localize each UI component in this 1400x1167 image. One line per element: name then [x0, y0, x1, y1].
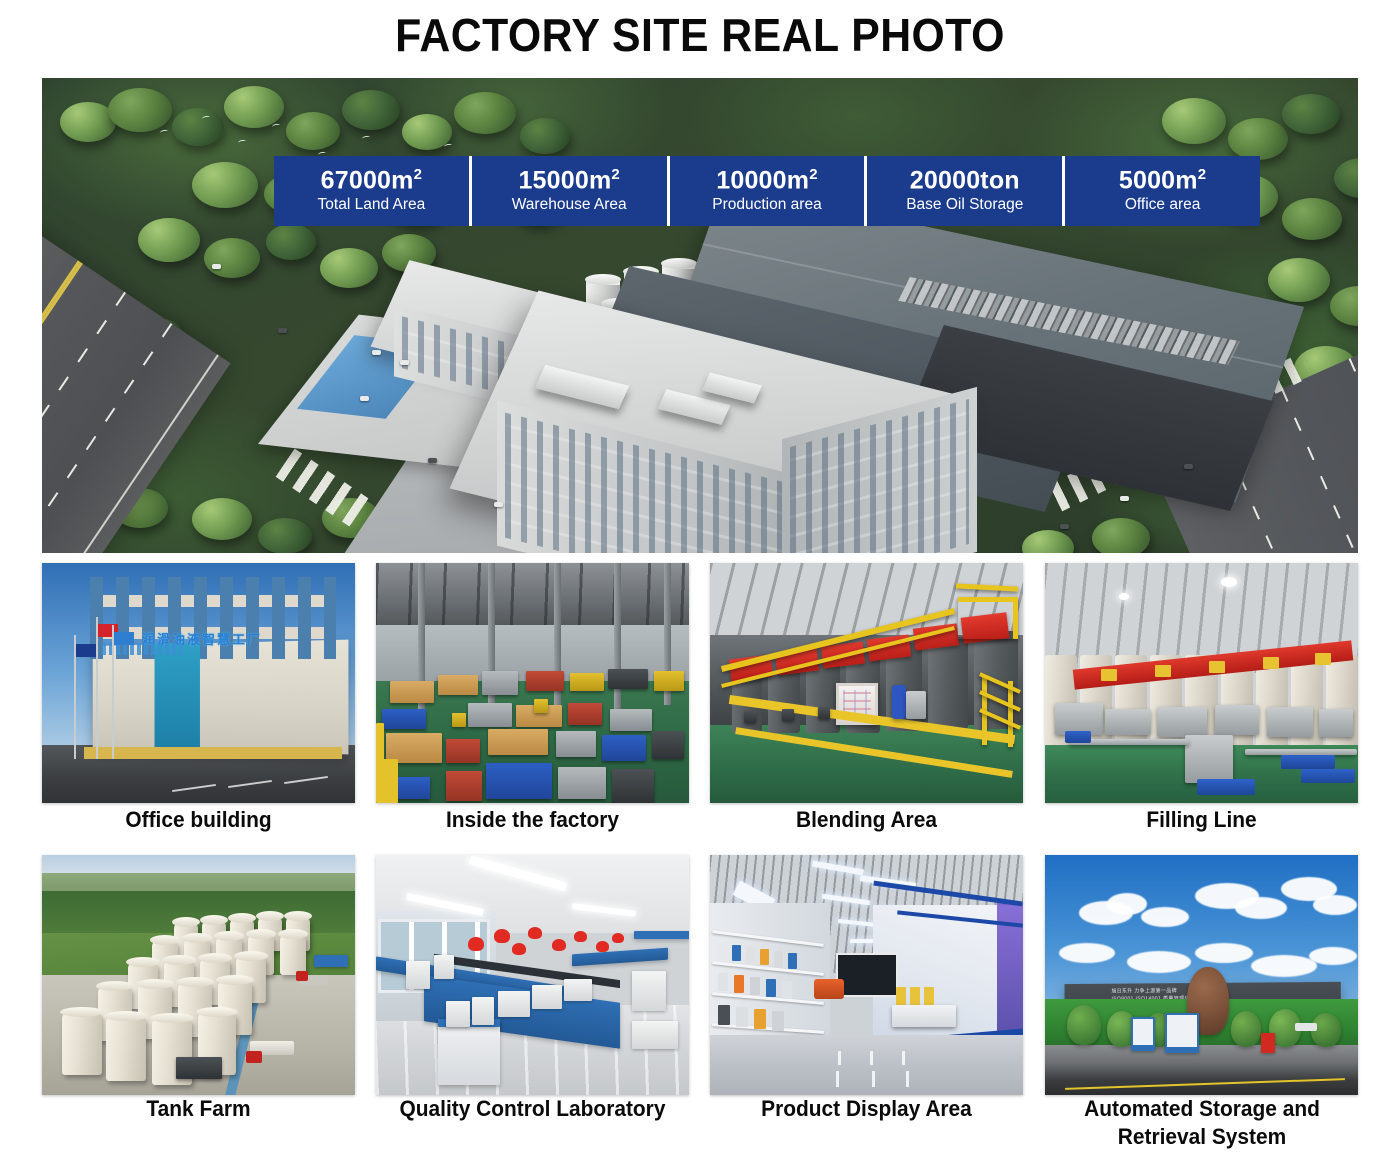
stat-value: 10000m2: [716, 167, 818, 194]
hero-aerial-photo: 67000m2 Total Land Area 15000m2 Warehous…: [42, 78, 1358, 553]
stat-label: Total Land Area: [318, 195, 426, 215]
gallery-captions-row-1: Office building Inside the factory Blend…: [42, 806, 1358, 846]
stat-label: Base Oil Storage: [906, 195, 1023, 215]
photo-tank-farm: [42, 855, 355, 1095]
caption-quality-control-laboratory: Quality Control Laboratory: [384, 1095, 681, 1123]
caption-inside-the-factory: Inside the factory: [384, 806, 681, 834]
stat-item: 5000m2 Office area: [1065, 156, 1260, 226]
photo-blending-area: [710, 563, 1023, 803]
stat-value: 15000m2: [518, 167, 620, 194]
caption-tank-farm: Tank Farm: [50, 1095, 347, 1123]
stat-label: Warehouse Area: [512, 195, 627, 215]
stat-item: 10000m2 Production area: [670, 156, 868, 226]
stat-value: 5000m2: [1119, 167, 1206, 194]
caption-product-display-area: Product Display Area: [718, 1095, 1015, 1123]
photo-quality-control-laboratory: [376, 855, 689, 1095]
photo-inside-factory: [376, 563, 689, 803]
caption-automated-storage-retrieval-system: Automated Storage and Retrieval System: [1042, 1095, 1361, 1150]
photo-automated-storage-retrieval-system: 旭日东升 力争上游第一品牌ISO9001 ISO14001 质量管理体系 智能立…: [1045, 855, 1358, 1095]
stat-value: 20000ton: [910, 167, 1020, 194]
caption-office-building: Office building: [50, 806, 347, 834]
photo-office-building: 润滑油液智慧工厂: [42, 563, 355, 803]
hero-scene: [42, 78, 1358, 553]
stat-item: 67000m2 Total Land Area: [274, 156, 472, 226]
caption-blending-area: Blending Area: [718, 806, 1015, 834]
caption-filling-line: Filling Line: [1053, 806, 1350, 834]
page-title: FACTORY SITE REAL PHOTO: [49, 8, 1351, 62]
gallery-captions-row-2: Tank Farm Quality Control Laboratory Pro…: [42, 1095, 1358, 1161]
stat-label: Production area: [712, 195, 821, 215]
stat-value: 67000m2: [321, 167, 423, 194]
photo-product-display-area: [710, 855, 1023, 1095]
stats-bar: 67000m2 Total Land Area 15000m2 Warehous…: [274, 156, 1260, 226]
gallery-row-2: 旭日东升 力争上游第一品牌ISO9001 ISO14001 质量管理体系 智能立…: [42, 855, 1358, 1095]
stat-item: 20000ton Base Oil Storage: [867, 156, 1065, 226]
photo-filling-line: [1045, 563, 1358, 803]
stat-item: 15000m2 Warehouse Area: [472, 156, 670, 226]
factory-site-page: FACTORY SITE REAL PHOTO: [0, 0, 1400, 1167]
stat-label: Office area: [1125, 195, 1201, 215]
gallery-row-1: 润滑油液智慧工厂: [42, 563, 1358, 803]
